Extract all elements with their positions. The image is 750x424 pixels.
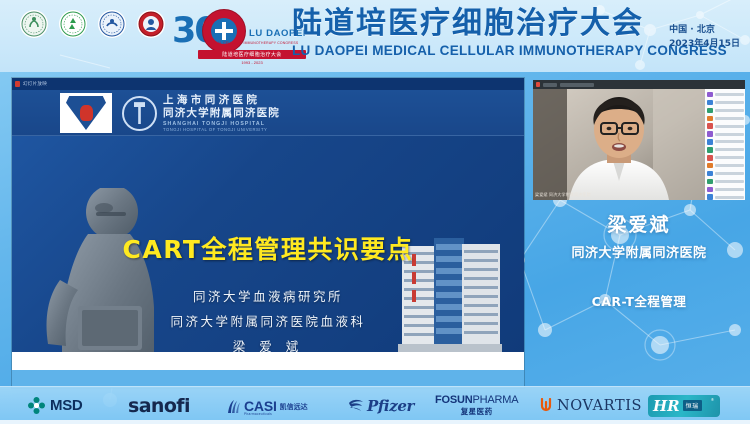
speaker-organization: 同济大学附属同济医院 (533, 242, 745, 261)
slide-title: CART全程管理共识要点 (12, 230, 524, 266)
avatar (707, 100, 713, 106)
participant-name (715, 125, 745, 128)
hospital-logo-icon-4 (137, 10, 165, 38)
participant-name (715, 109, 745, 112)
congress-title-cn: 陆道培医疗细胞治疗大会 (292, 7, 644, 42)
pfizer-logo-icon (348, 399, 364, 412)
sponsor-fosun[interactable]: FOSUNPHARMA 复星医药 (435, 394, 518, 417)
video-label-2 (560, 83, 594, 87)
participant-name (715, 133, 745, 136)
hospital-name-cn-1: 上海市同济医院 (163, 94, 280, 107)
avatar (707, 163, 713, 169)
slide-body-line-2: 同济大学附属同济医院血液科 (12, 311, 524, 330)
hengrui-wordmark-cn: 恒瑞 (683, 400, 702, 411)
fosun-wordmark-2: PHARMA (473, 394, 519, 406)
avatar (707, 171, 713, 177)
hengrui-logo-icon: HR (653, 397, 680, 415)
anniversary-band-cn: 陆道培医疗细胞治疗大会 (198, 50, 306, 59)
participant-name (715, 93, 745, 96)
novartis-logo-icon (540, 398, 552, 413)
sponsor-msd[interactable]: MSD (28, 397, 82, 414)
congress-title-en: LU DAOPEI MEDICAL CELLULAR IMMUNOTHERAPY… (292, 43, 727, 58)
msd-logo-icon (28, 397, 45, 414)
anniversary-subtitle-en: MEDICAL CELLULAR IMMUNOTHERAPY CONGRESS (198, 41, 306, 46)
video-label-1 (543, 83, 557, 87)
list-item[interactable] (706, 146, 744, 153)
fosun-wordmark-1: FOSUN (435, 394, 473, 406)
slide-window-label: 幻灯片放映 (23, 81, 47, 87)
avatar (707, 131, 713, 137)
list-item[interactable] (706, 170, 744, 177)
list-item[interactable] (706, 91, 744, 98)
casi-wordmark-cn: 凯信远达 (280, 402, 308, 412)
header-meta: 中国 · 北京 2023年4月15日 (669, 24, 740, 52)
list-item[interactable] (706, 107, 744, 114)
list-item[interactable] (706, 123, 744, 130)
avatar (707, 187, 713, 193)
avatar (707, 123, 713, 129)
anniversary-logo: 30 LU DAOPEI MEDICAL CELLULAR IMMUNOTHER… (172, 8, 307, 66)
avatar (707, 147, 713, 153)
list-item[interactable] (706, 162, 744, 169)
page-header: 30 LU DAOPEI MEDICAL CELLULAR IMMUNOTHER… (0, 0, 750, 72)
congress-location: 中国 · 北京 (669, 24, 740, 38)
participant-name (715, 196, 745, 199)
avatar (707, 92, 713, 98)
hospital-wordmark: 上海市同济医院 同济大学附属同济医院 SHANGHAI TONGJI HOSPI… (122, 94, 280, 132)
participant-name (715, 156, 745, 159)
hospital-logo-icon-1 (20, 10, 48, 38)
slide-window-titlebar: 幻灯片放映 (12, 78, 524, 90)
list-item[interactable] (706, 178, 744, 185)
speaker-info: 梁爱斌 同济大学附属同济医院 CAR-T全程管理 (533, 205, 745, 315)
list-item[interactable] (706, 154, 744, 161)
list-item[interactable] (706, 194, 744, 200)
sanofi-wordmark: sanofi (128, 395, 190, 417)
speaker-topic: CAR-T全程管理 (533, 291, 745, 310)
video-panel[interactable]: 梁爱斌 同济大学附属同济医院 (533, 80, 745, 200)
avatar (707, 139, 713, 145)
sponsor-pfizer[interactable]: Pfizer (348, 397, 414, 415)
avatar (707, 179, 713, 185)
casi-logo-icon (228, 400, 241, 414)
pfizer-wordmark: Pfizer (367, 397, 414, 415)
casi-subtitle: Pharmaceuticals (244, 412, 272, 416)
hospital-logo-icon-2 (59, 10, 87, 38)
sponsor-bar: MSD sanofi CASI 凯信远达 Pharmaceuticals Pfi… (0, 386, 750, 424)
novartis-wordmark: NOVARTIS (557, 398, 642, 414)
tongji-emblem-icon (122, 96, 157, 131)
avatar (707, 108, 713, 114)
speaker-name: 梁爱斌 (533, 210, 745, 237)
video-titlebar (533, 80, 745, 89)
participant-name (715, 101, 745, 104)
avatar (707, 116, 713, 122)
msd-wordmark: MSD (50, 397, 82, 414)
slide-body-line-1: 同济大学血液病研究所 (12, 286, 524, 305)
slide-white-strip (12, 352, 524, 370)
participant-list[interactable] (705, 89, 745, 200)
list-item[interactable] (706, 99, 744, 106)
sponsor-hengrui[interactable]: HR 恒瑞 ® (648, 395, 720, 417)
speaker-webcam-image (533, 89, 705, 200)
list-item[interactable] (706, 130, 744, 137)
avatar (707, 194, 713, 200)
hospital-name-cn-2: 同济大学附属同济医院 (163, 107, 280, 120)
video-speaker-caption: 梁爱斌 同济大学附属同济医院 (535, 192, 591, 198)
anniversary-years: 1993 - 2023 (198, 60, 306, 65)
fosun-wordmark-cn: 复星医药 (435, 406, 518, 417)
congress-date: 2023年4月15日 (669, 38, 740, 52)
participant-name (715, 140, 745, 143)
participant-name (715, 188, 745, 191)
sponsor-casi[interactable]: CASI 凯信远达 Pharmaceuticals (228, 398, 308, 414)
presentation-slide[interactable]: 幻灯片放映 上海市同济医院 同济大学附属同济医院 SHANGHAI TONGJI… (12, 78, 524, 388)
participant-name (715, 148, 745, 151)
slide-hospital-header: 上海市同济医院 同济大学附属同济医院 SHANGHAI TONGJI HOSPI… (12, 90, 524, 136)
record-indicator-icon (536, 82, 540, 87)
registered-mark-icon: ® (711, 397, 714, 402)
slide-record-icon (15, 81, 20, 87)
participant-name (715, 117, 745, 120)
institution-logo-group (20, 10, 165, 38)
sponsor-novartis[interactable]: NOVARTIS (540, 398, 642, 414)
list-item[interactable] (706, 186, 744, 193)
congress-emblem-icon (202, 9, 246, 53)
participant-name (715, 172, 745, 175)
list-item[interactable] (706, 115, 744, 122)
video-stage: 梁爱斌 同济大学附属同济医院 (533, 89, 705, 200)
sponsor-sanofi[interactable]: sanofi (128, 395, 190, 417)
participant-name (715, 164, 745, 167)
hospital-shield-logo (60, 93, 112, 133)
hospital-name-en-2: TONGJI HOSPITAL OF TONGJI UNIVERSITY (163, 127, 280, 132)
hospital-logo-icon-3 (98, 10, 126, 38)
avatar (707, 155, 713, 161)
participant-name (715, 180, 745, 183)
list-item[interactable] (706, 138, 744, 145)
